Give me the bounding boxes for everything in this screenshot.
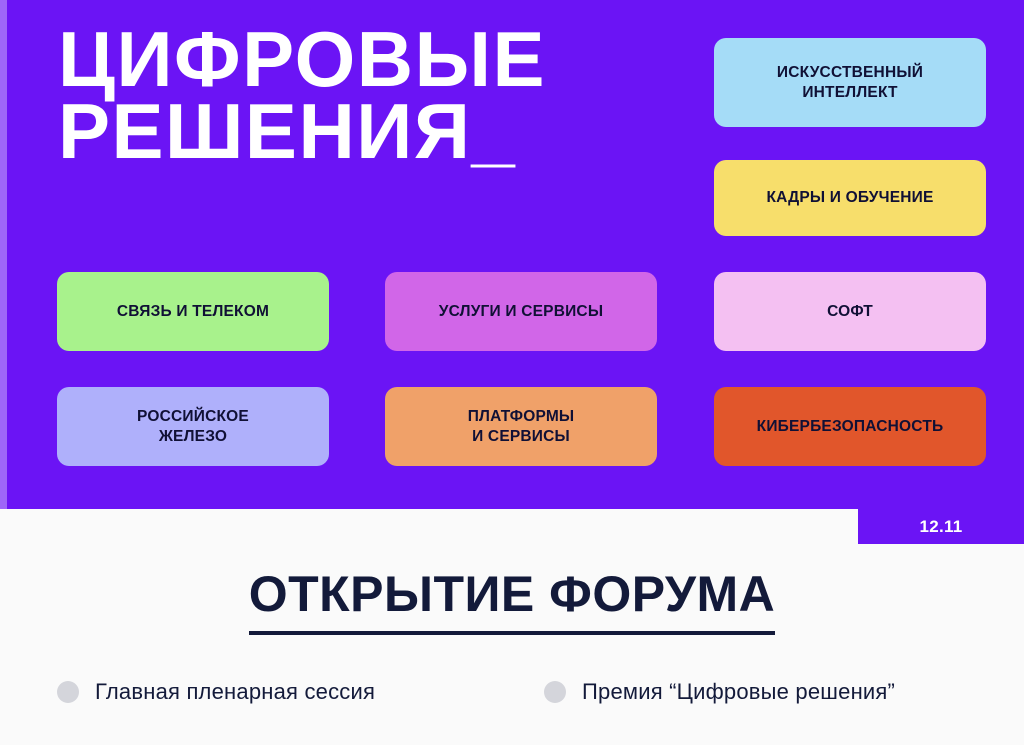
hero-left-edge [0, 0, 7, 509]
list-item-label: Главная пленарная сессия [95, 679, 375, 705]
tag-label: ИСКУССТВЕННЫЙ ИНТЕЛЛЕКТ [777, 63, 923, 102]
tag-hr-and-training[interactable]: КАДРЫ И ОБУЧЕНИЕ [714, 160, 986, 236]
tag-software[interactable]: СОФТ [714, 272, 986, 351]
section-heading: ОТКРЫТИЕ ФОРУМА [249, 569, 776, 635]
list-item-label: Премия “Цифровые решения” [582, 679, 895, 705]
date-badge: 12.11 [858, 509, 1024, 544]
tag-label: СОФТ [827, 302, 873, 321]
bullet-dot-icon [57, 681, 79, 703]
tag-communications-and-telecom[interactable]: СВЯЗЬ И ТЕЛЕКОМ [57, 272, 329, 351]
tag-services[interactable]: УСЛУГИ И СЕРВИСЫ [385, 272, 657, 351]
tag-artificial-intelligence[interactable]: ИСКУССТВЕННЫЙ ИНТЕЛЛЕКТ [714, 38, 986, 127]
tag-label: УСЛУГИ И СЕРВИСЫ [439, 302, 603, 321]
tag-label: КИБЕРБЕЗОПАСНОСТЬ [757, 417, 944, 436]
tag-label: РОССИЙСКОЕ ЖЕЛЕЗО [137, 407, 249, 446]
list-item[interactable]: Премия “Цифровые решения” [544, 679, 895, 705]
tag-russian-hardware[interactable]: РОССИЙСКОЕ ЖЕЛЕЗО [57, 387, 329, 466]
tag-label: СВЯЗЬ И ТЕЛЕКОМ [117, 302, 269, 321]
lower-section: ОТКРЫТИЕ ФОРУМА Главная пленарная сессия… [0, 509, 1024, 745]
list-item[interactable]: Главная пленарная сессия [57, 679, 544, 705]
section-heading-wrap: ОТКРЫТИЕ ФОРУМА [0, 569, 1024, 635]
page-title: ЦИФРОВЫЕ РЕШЕНИЯ_ [58, 24, 698, 168]
poster-canvas: ЦИФРОВЫЕ РЕШЕНИЯ_ ИСКУССТВЕННЫЙ ИНТЕЛЛЕК… [0, 0, 1024, 745]
tag-cybersecurity[interactable]: КИБЕРБЕЗОПАСНОСТЬ [714, 387, 986, 466]
tag-label: ПЛАТФОРМЫ И СЕРВИСЫ [468, 407, 575, 446]
hero-panel: ЦИФРОВЫЕ РЕШЕНИЯ_ ИСКУССТВЕННЫЙ ИНТЕЛЛЕК… [0, 0, 1024, 509]
bullet-list: Главная пленарная сессия Премия “Цифровы… [0, 679, 1024, 705]
tag-label: КАДРЫ И ОБУЧЕНИЕ [766, 188, 933, 207]
tag-platforms-and-services[interactable]: ПЛАТФОРМЫ И СЕРВИСЫ [385, 387, 657, 466]
bullet-dot-icon [544, 681, 566, 703]
